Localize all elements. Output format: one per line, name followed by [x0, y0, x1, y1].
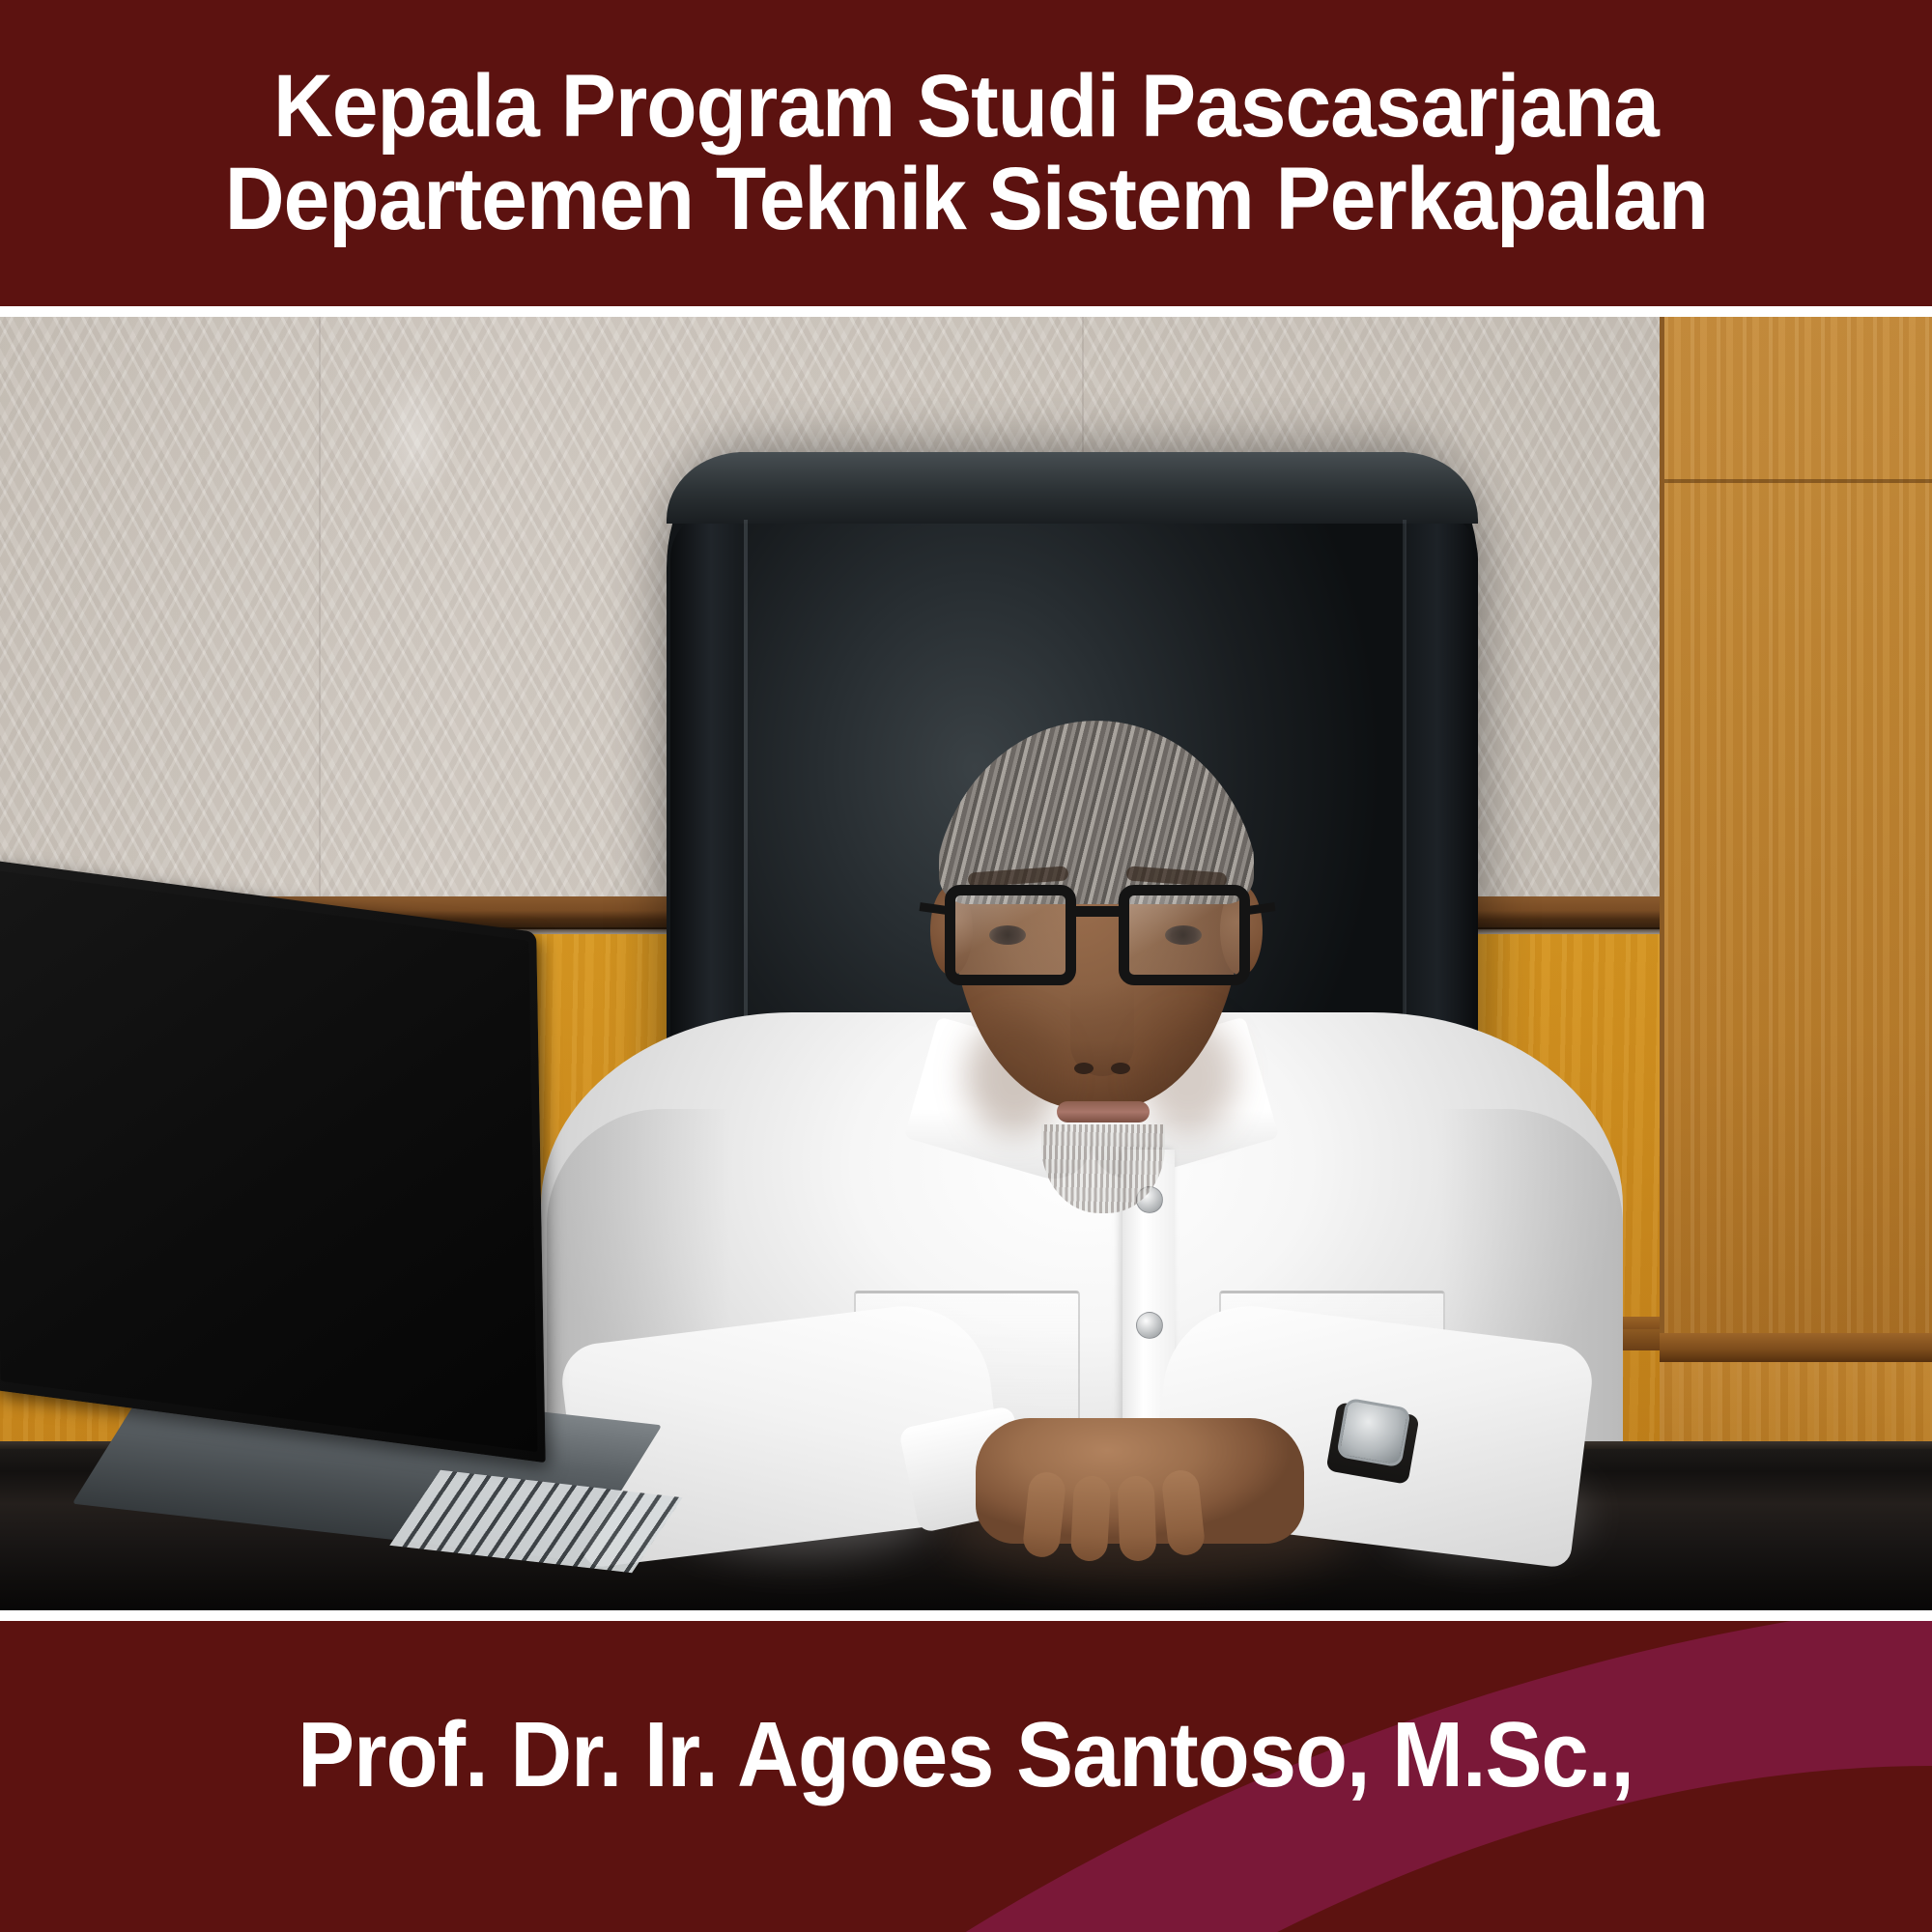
chair-headrest-roll	[667, 452, 1478, 524]
header-photo-divider	[0, 306, 1932, 317]
header-title-line-1: Kepala Program Studi Pascasarjana	[273, 61, 1659, 154]
door-panel-seam	[1664, 479, 1932, 483]
finger	[1117, 1475, 1156, 1561]
footer-banner: Prof. Dr. Ir. Agoes Santoso, M.Sc.,	[0, 1621, 1932, 1932]
laptop-lid	[0, 860, 546, 1463]
eyeglasses	[945, 885, 1250, 993]
nostril-right	[1111, 1063, 1130, 1074]
wristwatch-face	[1336, 1398, 1411, 1468]
door-bottom-rail	[1660, 1333, 1932, 1362]
eyeglass-bridge	[1076, 906, 1119, 917]
wallpaper-seam	[319, 317, 321, 914]
nostril-left	[1074, 1063, 1094, 1074]
cheek-shadow-left	[966, 1018, 1063, 1134]
mouth	[1057, 1101, 1150, 1122]
header-banner: Kepala Program Studi Pascasarjana Depart…	[0, 0, 1932, 306]
wood-door-panel	[1660, 317, 1932, 1341]
photo-footer-divider	[0, 1610, 1932, 1621]
person-name: Prof. Dr. Ir. Agoes Santoso, M.Sc.,	[298, 1702, 1634, 1808]
finger	[1070, 1475, 1112, 1562]
cheek-shadow-right	[1140, 1018, 1236, 1134]
footer-name-block: Prof. Dr. Ir. Agoes Santoso, M.Sc.,	[0, 1621, 1932, 1932]
laptop-screen	[0, 870, 538, 1453]
portrait-photo: ITS	[0, 317, 1932, 1610]
header-title-line-2: Departemen Teknik Sistem Perkapalan	[224, 154, 1707, 246]
eyeglass-lens-left	[945, 885, 1076, 985]
poster-card: Kepala Program Studi Pascasarjana Depart…	[0, 0, 1932, 1932]
shirt-button	[1136, 1312, 1163, 1339]
eyeglass-lens-right	[1119, 885, 1250, 985]
